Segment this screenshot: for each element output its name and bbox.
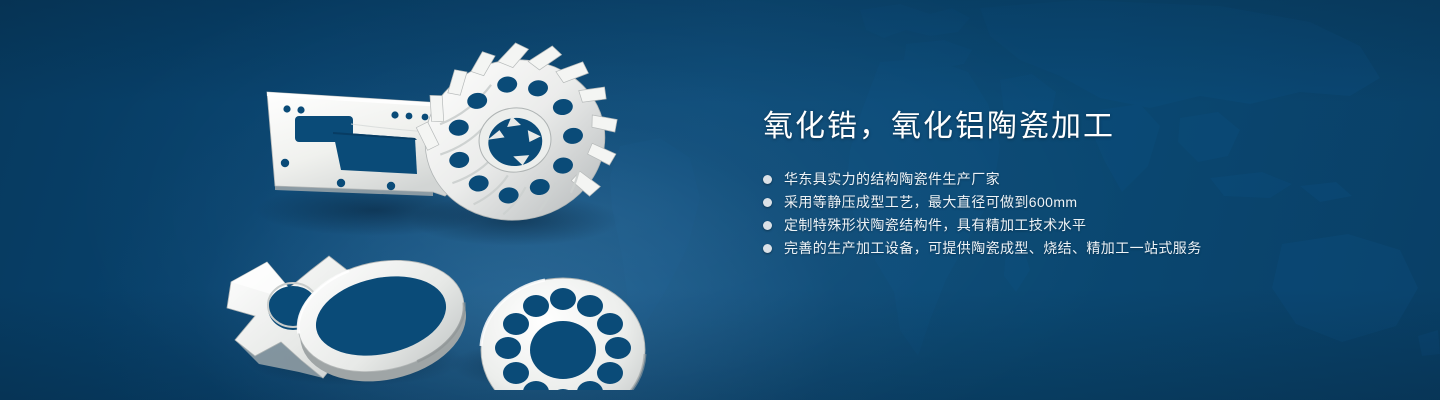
list-item: 采用等静压成型工艺，最大直径可做到600mm bbox=[763, 191, 1383, 214]
list-item: 定制特殊形状陶瓷结构件，具有精加工技术水平 bbox=[763, 214, 1383, 237]
copy-block: 氧化锆，氧化铝陶瓷加工 华东具实力的结构陶瓷件生产厂家 采用等静压成型工艺，最大… bbox=[763, 108, 1383, 260]
hero-banner: 氧化锆，氧化铝陶瓷加工 华东具实力的结构陶瓷件生产厂家 采用等静压成型工艺，最大… bbox=[0, 0, 1440, 400]
bullet-dot-icon bbox=[763, 244, 772, 253]
product-image-cluster bbox=[215, 20, 735, 390]
list-item-label: 华东具实力的结构陶瓷件生产厂家 bbox=[784, 168, 1000, 191]
list-item-label: 完善的生产加工设备，可提供陶瓷成型、烧结、精加工一站式服务 bbox=[784, 237, 1202, 260]
bullet-dot-icon bbox=[763, 221, 772, 230]
list-item-label: 采用等静压成型工艺，最大直径可做到600mm bbox=[784, 191, 1077, 214]
feature-list: 华东具实力的结构陶瓷件生产厂家 采用等静压成型工艺，最大直径可做到600mm 定… bbox=[763, 168, 1383, 260]
bullet-dot-icon bbox=[763, 175, 772, 184]
bullet-dot-icon bbox=[763, 198, 772, 207]
page-title: 氧化锆，氧化铝陶瓷加工 bbox=[763, 108, 1383, 146]
ceramic-perforated-disc-shape bbox=[481, 278, 645, 390]
list-item: 完善的生产加工设备，可提供陶瓷成型、烧结、精加工一站式服务 bbox=[763, 237, 1383, 260]
list-item: 华东具实力的结构陶瓷件生产厂家 bbox=[763, 168, 1383, 191]
list-item-label: 定制特殊形状陶瓷结构件，具有精加工技术水平 bbox=[784, 214, 1086, 237]
